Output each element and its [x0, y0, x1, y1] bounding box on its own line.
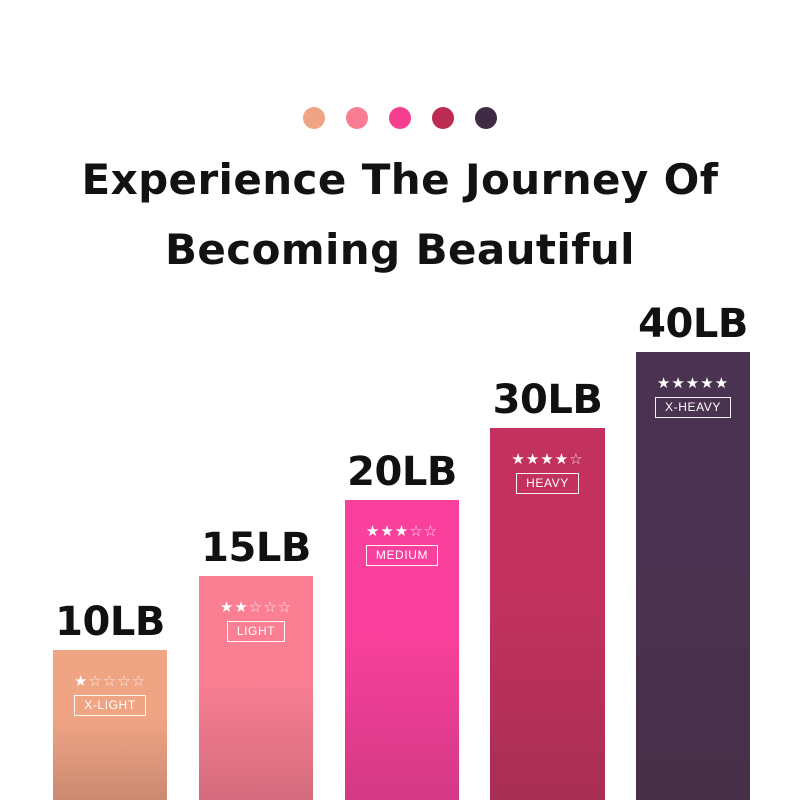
star-empty-icon: ☆: [569, 450, 583, 468]
bar-group-20lb[interactable]: 20LB★★★☆☆MEDIUM: [345, 500, 459, 800]
bar-rect[interactable]: ★☆☆☆☆X-LIGHT: [53, 650, 167, 800]
star-filled-icon: ★: [395, 522, 409, 540]
bar-rect[interactable]: ★★★★☆HEAVY: [490, 428, 605, 800]
bar-info: ★★★☆☆MEDIUM: [345, 522, 459, 566]
bar-rect[interactable]: ★★☆☆☆LIGHT: [199, 576, 313, 800]
bar-group-15lb[interactable]: 15LB★★☆☆☆LIGHT: [199, 576, 313, 800]
bar-group-10lb[interactable]: 10LB★☆☆☆☆X-LIGHT: [53, 650, 167, 800]
star-rating: ★★★★★: [636, 374, 750, 392]
bar-chart: 10LB★☆☆☆☆X-LIGHT15LB★★☆☆☆LIGHT20LB★★★☆☆M…: [0, 0, 800, 800]
bar-rect[interactable]: ★★★☆☆MEDIUM: [345, 500, 459, 800]
bar-gradient-overlay: [490, 595, 605, 800]
star-empty-icon: ☆: [424, 522, 438, 540]
bar-weight-label: 40LB: [638, 302, 748, 346]
level-badge: X-HEAVY: [655, 397, 731, 418]
star-rating: ★★★★☆: [490, 450, 605, 468]
star-filled-icon: ★: [657, 374, 671, 392]
star-filled-icon: ★: [700, 374, 714, 392]
bar-info: ★★☆☆☆LIGHT: [199, 598, 313, 642]
star-empty-icon: ☆: [249, 598, 263, 616]
bar-weight-label: 15LB: [201, 526, 311, 570]
level-badge: X-LIGHT: [74, 695, 146, 716]
star-filled-icon: ★: [234, 598, 248, 616]
star-filled-icon: ★: [715, 374, 729, 392]
star-empty-icon: ☆: [409, 522, 423, 540]
level-badge: MEDIUM: [366, 545, 438, 566]
level-badge: HEAVY: [516, 473, 579, 494]
bar-group-30lb[interactable]: 30LB★★★★☆HEAVY: [490, 428, 605, 800]
bar-gradient-overlay: [53, 718, 167, 800]
bar-info: ★★★★☆HEAVY: [490, 450, 605, 494]
bar-weight-label: 20LB: [347, 450, 457, 494]
bar-info: ★★★★★X-HEAVY: [636, 374, 750, 418]
star-empty-icon: ☆: [103, 672, 117, 690]
star-filled-icon: ★: [526, 450, 540, 468]
star-empty-icon: ☆: [278, 598, 292, 616]
star-rating: ★☆☆☆☆: [53, 672, 167, 690]
star-filled-icon: ★: [671, 374, 685, 392]
level-badge: LIGHT: [227, 621, 285, 642]
star-filled-icon: ★: [74, 672, 88, 690]
star-filled-icon: ★: [540, 450, 554, 468]
bar-group-40lb[interactable]: 40LB★★★★★X-HEAVY: [636, 352, 750, 800]
star-filled-icon: ★: [220, 598, 234, 616]
star-empty-icon: ☆: [263, 598, 277, 616]
bar-gradient-overlay: [636, 554, 750, 800]
star-empty-icon: ☆: [88, 672, 102, 690]
star-filled-icon: ★: [555, 450, 569, 468]
bar-gradient-overlay: [199, 677, 313, 800]
star-rating: ★★☆☆☆: [199, 598, 313, 616]
bar-info: ★☆☆☆☆X-LIGHT: [53, 672, 167, 716]
bar-rect[interactable]: ★★★★★X-HEAVY: [636, 352, 750, 800]
star-empty-icon: ☆: [132, 672, 146, 690]
star-filled-icon: ★: [686, 374, 700, 392]
bar-weight-label: 10LB: [55, 600, 165, 644]
resistance-band-infographic: Experience The Journey Of Becoming Beaut…: [0, 0, 800, 800]
star-empty-icon: ☆: [117, 672, 131, 690]
star-filled-icon: ★: [511, 450, 525, 468]
bar-weight-label: 30LB: [493, 378, 603, 422]
bar-gradient-overlay: [345, 635, 459, 800]
star-rating: ★★★☆☆: [345, 522, 459, 540]
star-filled-icon: ★: [366, 522, 380, 540]
star-filled-icon: ★: [380, 522, 394, 540]
